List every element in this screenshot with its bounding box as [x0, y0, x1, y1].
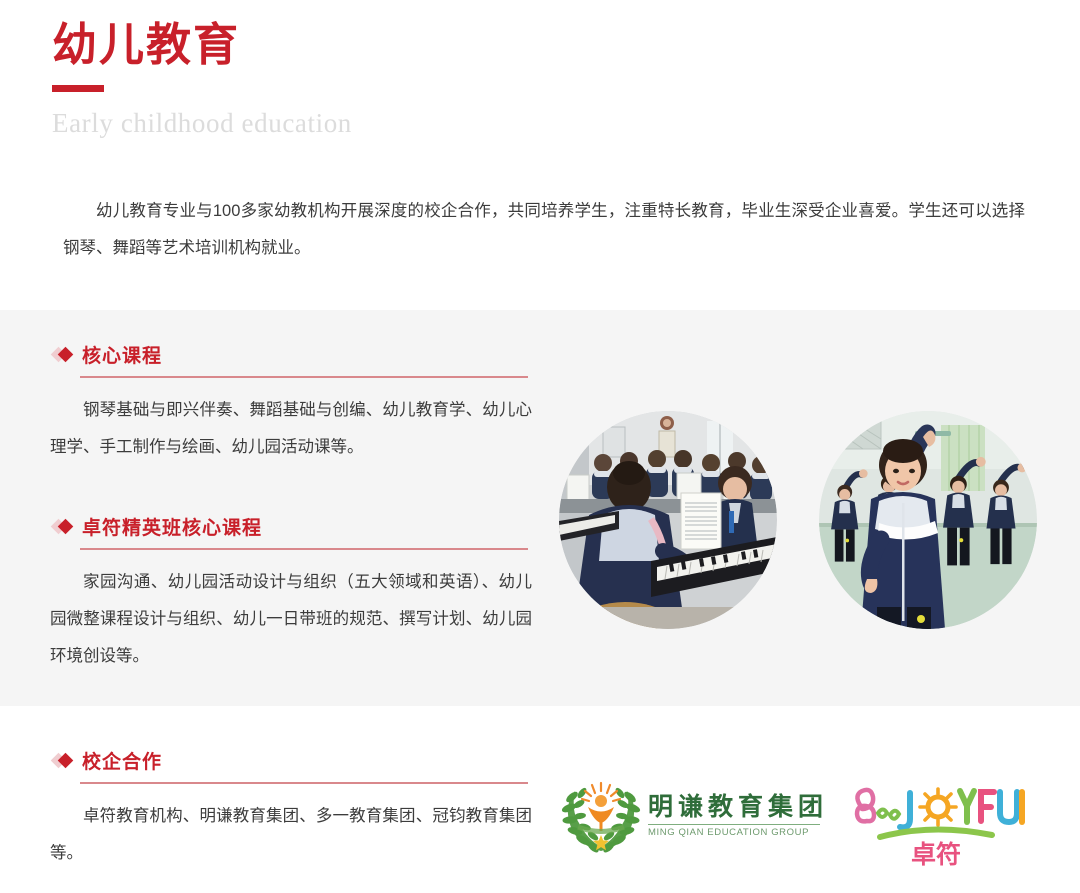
partner-logos: 明谦教育集团 MING QIAN EDUCATION GROUP [560, 775, 1050, 870]
mingqian-text: 明谦教育集团 MING QIAN EDUCATION GROUP [648, 794, 828, 839]
section-school-enterprise-cooperation: 校企合作 卓符教育机构、明谦教育集团、多一教育集团、冠钧教育集团等。 [50, 747, 532, 872]
section-core-courses: 核心课程 钢琴基础与即兴伴奏、舞蹈基础与创编、幼儿教育学、幼儿心理学、手工制作与… [50, 341, 532, 466]
joyful-name-cn: 卓符 [911, 840, 961, 867]
mingqian-name-cn: 明谦教育集团 [648, 794, 828, 822]
section-header: 校企合作 [50, 747, 532, 773]
page-header: 幼儿教育 Early childhood education [52, 20, 652, 139]
page-subtitle: Early childhood education [52, 108, 652, 139]
section-elite-courses: 卓符精英班核心课程 家园沟通、幼儿园活动设计与组织（五大领域和英语）、幼儿园微整… [50, 513, 532, 675]
intro-paragraph: 幼儿教育专业与100多家幼教机构开展深度的校企合作，共同培养学生，注重特长教育，… [63, 193, 1025, 267]
joyful-logo-icon: 卓符 [850, 775, 1025, 867]
section-body-text: 卓符教育机构、明谦教育集团、多一教育集团、冠钧教育集团等。 [50, 798, 532, 872]
page-title: 幼儿教育 [52, 20, 652, 70]
title-underline-bar [52, 85, 104, 92]
logo-mingqian-education-group: 明谦教育集团 MING QIAN EDUCATION GROUP [560, 777, 828, 855]
photo-piano-classroom [559, 411, 777, 629]
section-body-text: 家园沟通、幼儿园活动设计与组织（五大领域和英语）、幼儿园微整课程设计与组织、幼儿… [50, 564, 532, 675]
section-title: 校企合作 [82, 747, 162, 774]
diamond-bullet-icon [50, 518, 78, 534]
section-divider [80, 548, 528, 550]
diamond-bullet-icon [50, 346, 78, 362]
section-header: 卓符精英班核心课程 [50, 513, 532, 539]
section-divider [80, 376, 528, 378]
section-title: 核心课程 [82, 341, 162, 368]
mingqian-name-en: MING QIAN EDUCATION GROUP [648, 827, 828, 838]
diamond-bullet-icon [50, 752, 78, 768]
logo-joyful-zhuofu: 卓符 [850, 775, 1025, 867]
photo-dance-classroom [819, 411, 1037, 629]
section-divider [80, 782, 528, 784]
mingqian-emblem-icon [560, 777, 642, 855]
section-header: 核心课程 [50, 341, 532, 367]
section-body-text: 钢琴基础与即兴伴奏、舞蹈基础与创编、幼儿教育学、幼儿心理学、手工制作与绘画、幼儿… [50, 392, 532, 466]
section-title: 卓符精英班核心课程 [82, 513, 262, 540]
mingqian-divider [648, 824, 820, 825]
